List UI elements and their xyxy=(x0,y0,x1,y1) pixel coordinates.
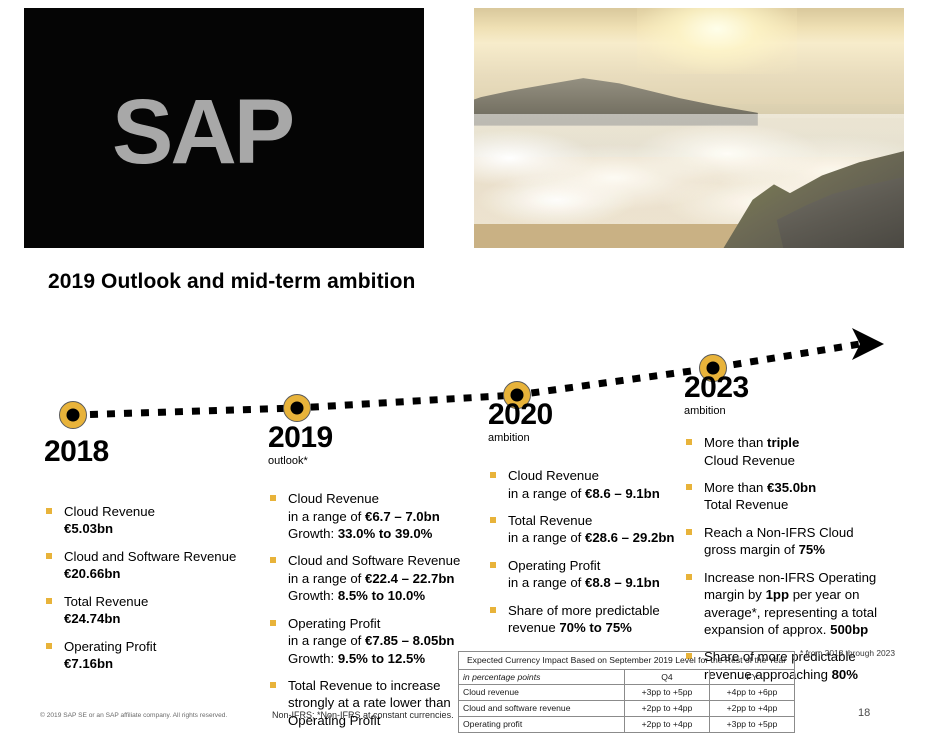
table-cell-q4: +3pp to +5pp xyxy=(624,685,709,701)
bullet-line-2-prefix: in a range of xyxy=(508,530,585,545)
mountain-sunrise-photo xyxy=(474,8,904,248)
bullet-line-2-suffix: per year on xyxy=(789,587,859,602)
list-item: Cloud Revenue in a range of €6.7 – 7.0bn… xyxy=(268,490,480,542)
page-number: 18 xyxy=(858,707,870,719)
table-cell-label: Cloud and software revenue xyxy=(459,701,625,717)
bullet-line-2: strongly at a rate lower than xyxy=(288,695,451,710)
year-label-2023: 2023 xyxy=(684,373,889,403)
year-sublabel-2023: ambition xyxy=(684,405,889,418)
bullet-line-2: Cloud Revenue xyxy=(704,453,795,468)
table-caption-row: Expected Currency Impact Based on Septem… xyxy=(459,652,795,670)
bullet-value: €24.74bn xyxy=(64,611,120,626)
bullet-value: €20.66bn xyxy=(64,566,120,581)
page-title: 2019 Outlook and mid-term ambition xyxy=(48,270,415,294)
bullet-line-1: Reach a Non-IFRS Cloud xyxy=(704,525,854,540)
list-item: Operating Profit in a range of €7.85 – 8… xyxy=(268,615,480,667)
sap-logo: SAP xyxy=(104,70,369,202)
year-sublabel-2020: ambition xyxy=(488,432,688,445)
bullet-line-2-value: 1pp xyxy=(766,587,789,602)
bullet-line-1: Total Revenue to increase xyxy=(288,678,440,693)
bullet-list-2019: Cloud Revenue in a range of €6.7 – 7.0bn… xyxy=(268,490,480,729)
table-cell-fy: +3pp to +5pp xyxy=(709,716,794,732)
bullet-line-1: Operating Profit xyxy=(288,616,380,631)
table-cell-label: Cloud revenue xyxy=(459,685,625,701)
table-cell-label: Operating profit xyxy=(459,716,625,732)
bullet-line-1: Operating Profit xyxy=(64,639,156,654)
list-item: Operating Profit in a range of €8.8 – 9.… xyxy=(488,557,688,592)
bullet-line-2-prefix: revenue xyxy=(508,620,559,635)
bullet-list-2023: More than triple Cloud Revenue More than… xyxy=(684,434,889,683)
sap-logo-panel: SAP xyxy=(24,8,424,248)
table-cell-q4: +2pp to +4pp xyxy=(624,716,709,732)
list-item: Cloud and Software Revenue €20.66bn xyxy=(44,548,259,583)
table-cell-fy: +4pp to +6pp xyxy=(709,685,794,701)
bullet-line-1: Share of more predictable xyxy=(508,603,660,618)
bullet-line-3-value: 8.5% to 10.0% xyxy=(338,588,425,603)
list-item: Total Revenue in a range of €28.6 – 29.2… xyxy=(488,512,688,547)
bullet-line-1: Cloud Revenue xyxy=(64,504,155,519)
bullet-value: €7.16bn xyxy=(64,656,113,671)
bullet-line-3-prefix: Growth: xyxy=(288,526,338,541)
currency-impact-table: Expected Currency Impact Based on Septem… xyxy=(458,651,795,733)
bullet-line-3-prefix: Growth: xyxy=(288,588,338,603)
bullet-line-2-value: 75% xyxy=(799,542,825,557)
list-item: Total Revenue €24.74bn xyxy=(44,593,259,628)
bullet-line-1: Operating Profit xyxy=(508,558,600,573)
column-2023: 2023 ambition More than triple Cloud Rev… xyxy=(684,373,889,693)
bullet-line-2-value: €7.85 – 8.05bn xyxy=(365,633,454,648)
bullet-line-3: average*, representing a total xyxy=(704,605,877,620)
bullet-line-2-prefix: in a range of xyxy=(288,509,365,524)
column-2019: 2019 outlook* Cloud Revenue in a range o… xyxy=(268,423,480,739)
bullet-line-2-value: 80% xyxy=(832,667,858,682)
table-row: Cloud revenue +3pp to +5pp +4pp to +6pp xyxy=(459,685,795,701)
year-sublabel-2019: outlook* xyxy=(268,455,480,468)
footnote-star: * from 2018 through 2023 xyxy=(800,648,895,658)
list-item: Total Revenue to increase strongly at a … xyxy=(268,677,480,729)
bullet-line-2-prefix: margin by xyxy=(704,587,766,602)
bullet-line-1: Total Revenue xyxy=(508,513,592,528)
list-item: Share of more predictable revenue 70% to… xyxy=(488,602,688,637)
table-cell-q4: +2pp to +4pp xyxy=(624,701,709,717)
bullet-line-3-value: 33.0% to 39.0% xyxy=(338,526,433,541)
year-label-2020: 2020 xyxy=(488,400,688,430)
bullet-line-2-value: €8.8 – 9.1bn xyxy=(585,575,660,590)
bullet-line-2-prefix: in a range of xyxy=(508,575,585,590)
bullet-line-3-value: 9.5% to 12.5% xyxy=(338,651,425,666)
bullet-line-2-value: €28.6 – 29.2bn xyxy=(585,530,674,545)
bullet-line-3-prefix: Growth: xyxy=(288,651,338,666)
list-item: Increase non-IFRS Operating margin by 1p… xyxy=(684,569,889,639)
footnote-non-ifrs: Non-IFRS; *Non-IFRS at constant currenci… xyxy=(272,710,454,720)
table-header-unit: in percentage points xyxy=(459,669,625,685)
table-row: Operating profit +2pp to +4pp +3pp to +5… xyxy=(459,716,795,732)
bullet-line-1: Cloud and Software Revenue xyxy=(288,553,460,568)
bullet-line-1-prefix: More than xyxy=(704,435,767,450)
table-header-fy: FY xyxy=(709,669,794,685)
bullet-line-1-prefix: More than xyxy=(704,480,767,495)
table-header-row: in percentage points Q4 FY xyxy=(459,669,795,685)
list-item: Cloud and Software Revenue in a range of… xyxy=(268,552,480,604)
table-cell-fy: +2pp to +4pp xyxy=(709,701,794,717)
column-2018: 2018 Cloud Revenue €5.03bn Cloud and Sof… xyxy=(44,437,259,682)
bullet-line-2-prefix: in a range of xyxy=(288,571,365,586)
bullet-line-1: Total Revenue xyxy=(64,594,148,609)
list-item: Cloud Revenue in a range of €8.6 – 9.1bn xyxy=(488,467,688,502)
year-label-2018: 2018 xyxy=(44,437,259,467)
bullet-line-1: Increase non-IFRS Operating xyxy=(704,570,876,585)
bullet-line-2-prefix: in a range of xyxy=(288,633,365,648)
bullet-line-1: Cloud Revenue xyxy=(288,491,379,506)
bullet-line-2-value: 70% to 75% xyxy=(559,620,632,635)
bullet-line-1-value: €35.0bn xyxy=(767,480,816,495)
bullet-line-2-value: €8.6 – 9.1bn xyxy=(585,486,660,501)
bullet-line-2: Total Revenue xyxy=(704,497,788,512)
bullet-line-4-value: 500bp xyxy=(830,622,868,637)
bullet-line-2-prefix: gross margin of xyxy=(704,542,799,557)
milestone-marker-2018 xyxy=(59,401,87,429)
sun-glow xyxy=(637,8,797,74)
table-header-q4: Q4 xyxy=(624,669,709,685)
list-item: Operating Profit €7.16bn xyxy=(44,638,259,673)
bullet-line-2-value: €22.4 – 22.7bn xyxy=(365,571,454,586)
bullet-line-1: Cloud and Software Revenue xyxy=(64,549,236,564)
sap-logo-wordmark: SAP xyxy=(112,86,377,178)
milestone-marker-2019 xyxy=(283,394,311,422)
bullet-list-2020: Cloud Revenue in a range of €8.6 – 9.1bn… xyxy=(488,467,688,636)
bullet-line-4-prefix: expansion of approx. xyxy=(704,622,830,637)
list-item: More than triple Cloud Revenue xyxy=(684,434,889,469)
bullet-line-1-value: triple xyxy=(767,435,799,450)
year-label-2019: 2019 xyxy=(268,423,480,453)
bullet-line-1: Cloud Revenue xyxy=(508,468,599,483)
list-item: More than €35.0bn Total Revenue xyxy=(684,479,889,514)
column-2020: 2020 ambition Cloud Revenue in a range o… xyxy=(488,400,688,647)
bullet-list-2018: Cloud Revenue €5.03bn Cloud and Software… xyxy=(44,503,259,672)
list-item: Cloud Revenue €5.03bn xyxy=(44,503,259,538)
list-item: Reach a Non-IFRS Cloud gross margin of 7… xyxy=(684,524,889,559)
bullet-line-2-prefix: in a range of xyxy=(508,486,585,501)
footnote-copyright: © 2019 SAP SE or an SAP affiliate compan… xyxy=(40,712,227,719)
bullet-value: €5.03bn xyxy=(64,521,113,536)
table-row: Cloud and software revenue +2pp to +4pp … xyxy=(459,701,795,717)
bullet-line-2-value: €6.7 – 7.0bn xyxy=(365,509,440,524)
table-caption: Expected Currency Impact Based on Septem… xyxy=(459,652,795,670)
